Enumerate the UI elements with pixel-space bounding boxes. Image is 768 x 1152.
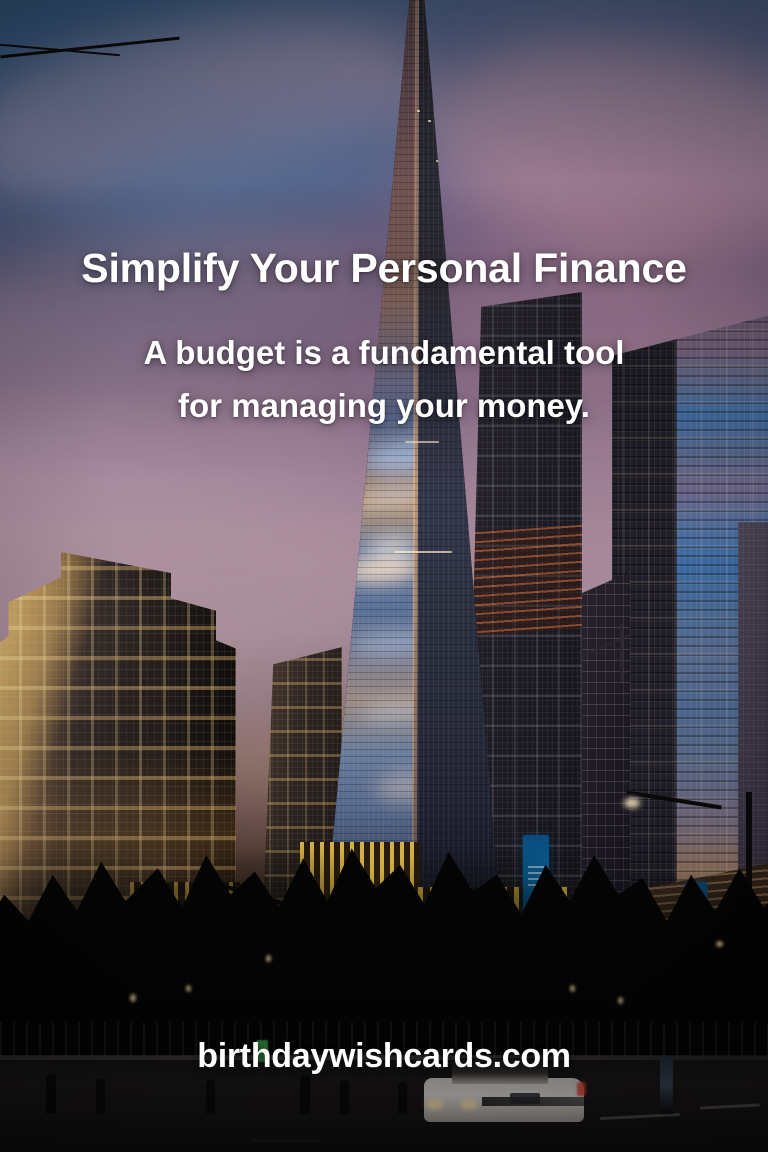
light-speck bbox=[618, 997, 623, 1004]
pedestrian bbox=[46, 1074, 56, 1114]
pedestrian bbox=[96, 1078, 105, 1114]
light-speck bbox=[266, 955, 271, 962]
pedestrian bbox=[398, 1082, 407, 1114]
lit-window-row bbox=[405, 441, 439, 443]
subtitle-block: A budget is a fundamental tool for manag… bbox=[0, 326, 768, 433]
suv-headlight bbox=[426, 1099, 444, 1110]
light-speck bbox=[570, 985, 575, 992]
light-speck bbox=[716, 941, 723, 947]
light-speck bbox=[130, 994, 136, 1002]
suv-unit-number-plate bbox=[510, 1093, 540, 1104]
subtitle-line-1: A budget is a fundamental tool bbox=[144, 334, 625, 371]
suv-headlight bbox=[460, 1099, 478, 1110]
construction-crane-mast bbox=[620, 624, 623, 682]
light-speck bbox=[186, 985, 191, 992]
lit-window-dot bbox=[417, 110, 420, 112]
pedestrian bbox=[300, 1076, 310, 1114]
watermark-url: birthdaywishcards.com bbox=[0, 1037, 768, 1076]
street-lamp-glow bbox=[624, 798, 640, 808]
lit-window-row bbox=[394, 551, 452, 553]
poster-canvas: Simplify Your Personal Finance A budget … bbox=[0, 0, 768, 1152]
page-title: Simplify Your Personal Finance bbox=[0, 246, 768, 290]
subtitle-line-2: for managing your money. bbox=[60, 379, 708, 432]
suv-taillight bbox=[577, 1082, 586, 1096]
lane-marking bbox=[250, 1139, 320, 1142]
construction-floor-band bbox=[462, 525, 582, 637]
pedestrian bbox=[206, 1080, 215, 1114]
pedestrian bbox=[340, 1080, 349, 1114]
